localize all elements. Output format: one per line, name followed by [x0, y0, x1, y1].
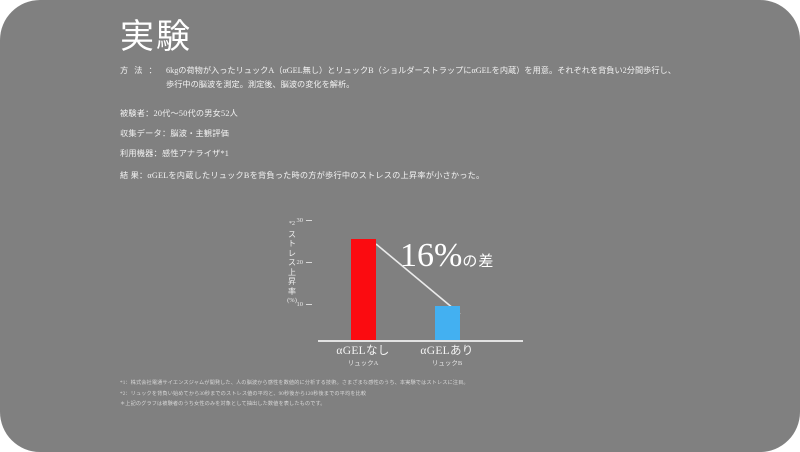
y-axis-label-char: ト: [284, 239, 300, 249]
y-axis-label-char: ス: [284, 230, 300, 240]
page-title: 実験: [120, 16, 192, 60]
y-axis-tick: 10: [280, 301, 312, 309]
category-label: αGELあり: [392, 344, 502, 359]
x-axis-category-alpha-gel-present: αGELあり リュックB: [392, 344, 502, 369]
difference-suffix: の差: [462, 254, 494, 270]
meta-device: 利用機器：感性アナライザ*1: [120, 148, 229, 160]
method-label: 方 法 ：: [120, 64, 166, 78]
footnote-2: *2：リュックを背負い始めてから30秒までのストレス値の平均と、90秒後から12…: [120, 389, 680, 400]
tick-dash-icon: [306, 262, 312, 263]
y-axis-tick: 20: [280, 259, 312, 267]
x-axis-baseline: [318, 340, 523, 342]
y-axis-label-char: 率: [284, 287, 300, 297]
stress-increase-bar-chart: *2 ス ト レ ス 上 昇 率 (%) 30 20 10 16%の差: [280, 210, 540, 370]
tick-dash-icon: [306, 304, 312, 305]
y-axis-tick-label: 30: [297, 217, 304, 224]
category-sublabel: リュックB: [392, 359, 502, 369]
footnote-1: *1：株式会社電通サイエンスジャムが開発した、人の脳波から感性を数値的に分析する…: [120, 378, 680, 389]
y-axis-tick: 30: [280, 217, 312, 225]
method-line-2: 歩行中の脳波を測定。測定後、脳波の変化を解析。: [166, 78, 700, 92]
difference-annotation: 16%の差: [400, 238, 494, 280]
method-block: 方 法 ： 6kgの荷物が入ったリュックA（αGEL無し）とリュックB（ショルダ…: [120, 64, 700, 92]
meta-subjects: 被験者：20代～50代の男女52人: [120, 108, 238, 120]
footnotes: *1：株式会社電通サイエンスジャムが開発した、人の脳波から感性を数値的に分析する…: [120, 378, 680, 410]
meta-collected-data: 収集データ：脳波・主観評価: [120, 128, 229, 140]
result-statement: 結 果：αGELを内蔵したリュックBを背負った時の方が歩行中のストレスの上昇率が…: [120, 170, 484, 182]
y-axis-label-char: レ: [284, 249, 300, 259]
method-body: 6kgの荷物が入ったリュックA（αGEL無し）とリュックB（ショルダーストラップ…: [166, 64, 700, 92]
footnote-3: ＊上記のグラフは被験者のうち女性のみを対象として抽出した数値を表したものです。: [120, 399, 680, 410]
y-axis-label-char: 上: [284, 268, 300, 278]
y-axis-tick-label: 20: [297, 259, 304, 266]
difference-value: 16%: [400, 237, 462, 274]
bar-alpha-gel-none: [351, 239, 376, 340]
method-row: 方 法 ： 6kgの荷物が入ったリュックA（αGEL無し）とリュックB（ショルダ…: [120, 64, 700, 92]
bar-alpha-gel-present: [435, 306, 460, 340]
method-line-1: 6kgの荷物が入ったリュックA（αGEL無し）とリュックB（ショルダーストラップ…: [166, 64, 700, 78]
y-axis-label-char: 昇: [284, 277, 300, 287]
experiment-card: 実験 方 法 ： 6kgの荷物が入ったリュックA（αGEL無し）とリュックB（シ…: [0, 0, 800, 452]
y-axis-tick-label: 10: [297, 301, 304, 308]
tick-dash-icon: [306, 220, 312, 221]
